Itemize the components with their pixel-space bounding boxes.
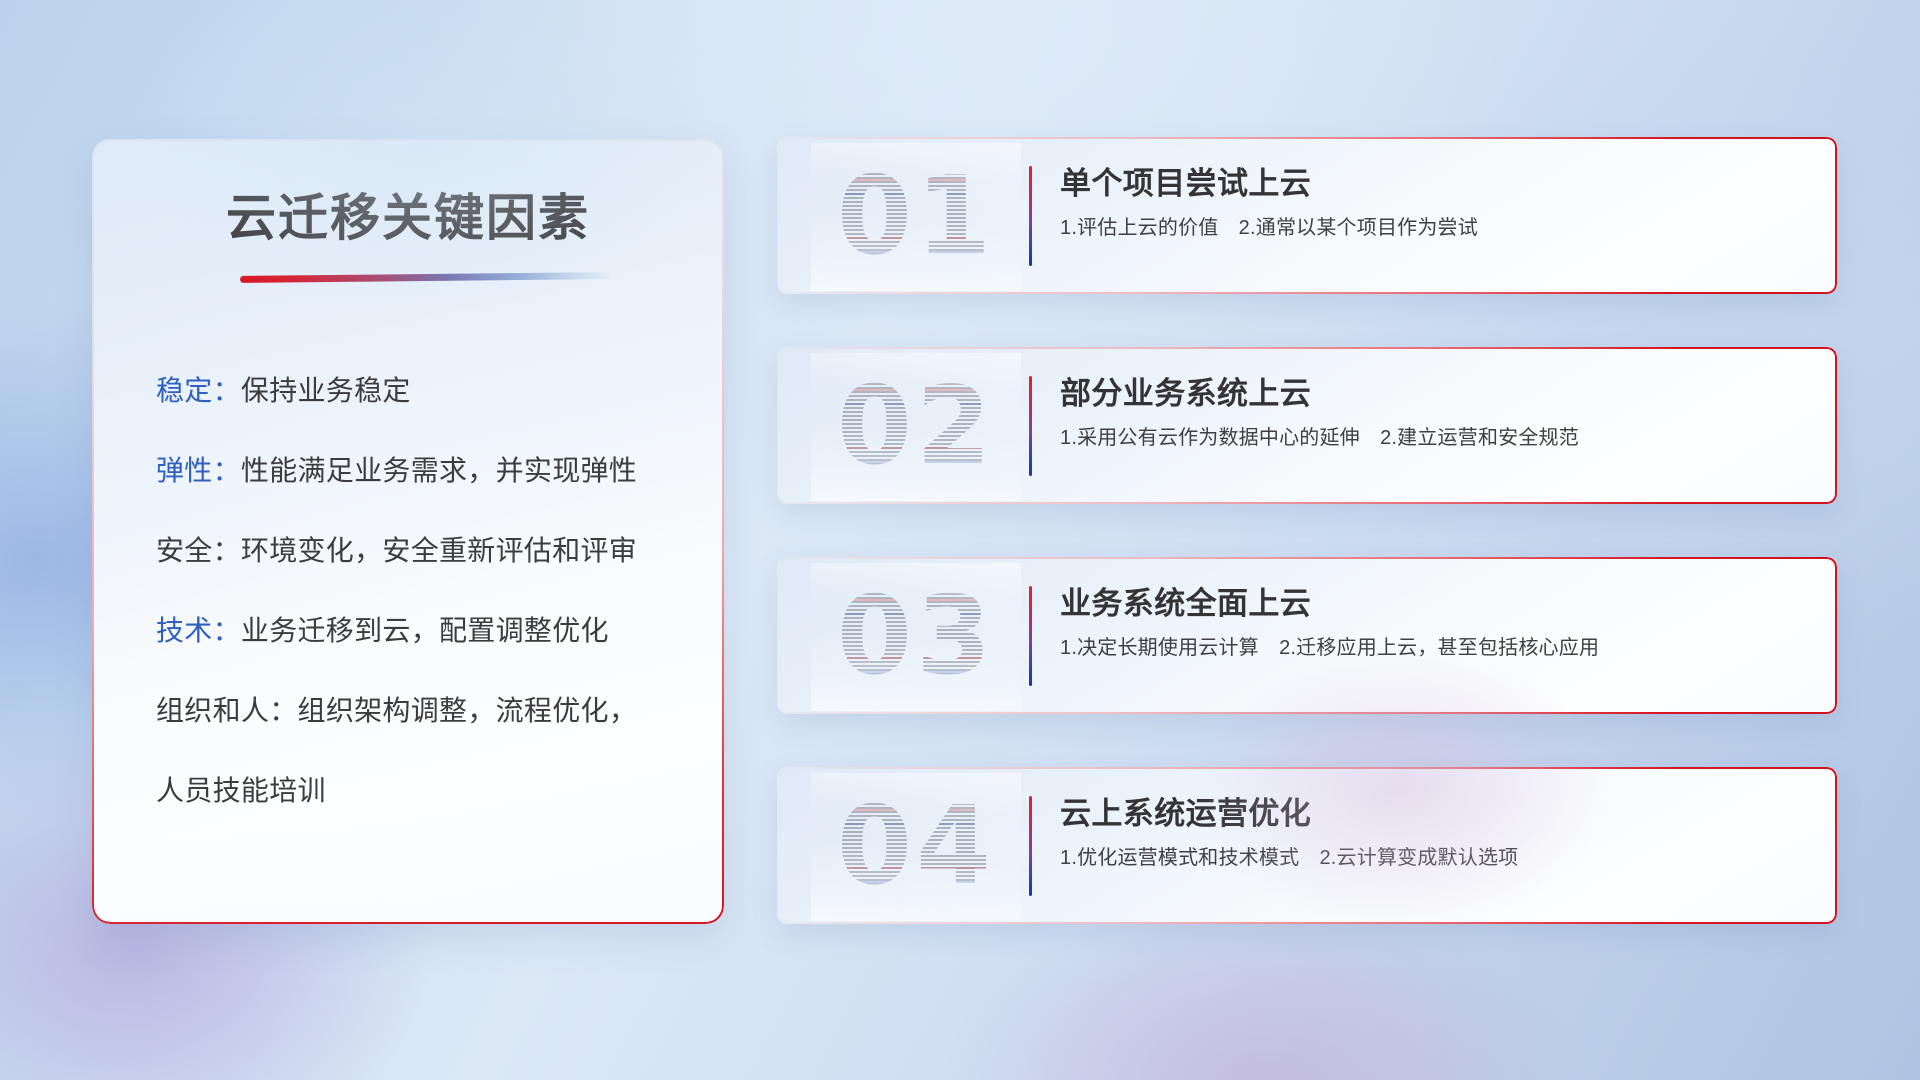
title-underline-rule bbox=[240, 272, 610, 283]
card-title: 业务系统全面上云 bbox=[1060, 585, 1813, 622]
stage-number-fade-overlay bbox=[811, 773, 1021, 921]
stage-number-tint: 04 bbox=[837, 793, 995, 901]
factor-value: 保持业务稳定 bbox=[241, 375, 411, 406]
card-body: 部分业务系统上云 1.采用公有云作为数据中心的延伸 2.建立运营和安全规范 bbox=[1060, 375, 1813, 451]
stage-card[interactable]: 01 01 单个项目尝试上云 1.评估上云的价值 2.通常以某个项目作为尝试 bbox=[777, 137, 1837, 294]
stage-card[interactable]: 03 03 业务系统全面上云 1.决定长期使用云计算 2.迁移应用上云，甚至包括… bbox=[777, 557, 1837, 714]
slide-canvas: 云迁移关键因素 稳定：保持业务稳定 弹性：性能满足业务需求，并实现弹性 安全：环… bbox=[0, 0, 1920, 1080]
factor-key: 稳定： bbox=[156, 375, 241, 406]
list-item: 技术：业务迁移到云，配置调整优化 bbox=[156, 617, 668, 645]
accent-bar-icon bbox=[1029, 796, 1032, 896]
key-factors-list: 稳定：保持业务稳定 弹性：性能满足业务需求，并实现弹性 安全：环境变化，安全重新… bbox=[92, 377, 724, 805]
list-item-continuation: 人员技能培训 bbox=[156, 777, 668, 805]
factor-key: 组织和人： bbox=[156, 695, 298, 726]
card-body: 云上系统运营优化 1.优化运营模式和技术模式 2.云计算变成默认选项 bbox=[1060, 795, 1813, 871]
stage-number-watermark: 03 03 bbox=[811, 563, 1021, 711]
factor-value: 业务迁移到云，配置调整优化 bbox=[241, 615, 609, 646]
accent-bar-icon bbox=[1029, 376, 1032, 476]
factor-key: 弹性： bbox=[156, 455, 241, 486]
factor-value: 组织架构调整，流程优化， bbox=[298, 695, 638, 726]
accent-bar-icon bbox=[1029, 166, 1032, 266]
stage-number-tint: 01 bbox=[837, 163, 995, 271]
stage-number-tint: 02 bbox=[837, 373, 995, 481]
stage-number-tint: 03 bbox=[837, 583, 995, 691]
factor-value: 性能满足业务需求，并实现弹性 bbox=[241, 455, 637, 486]
factor-value: 环境变化，安全重新评估和评审 bbox=[241, 535, 637, 566]
key-factors-panel: 云迁移关键因素 稳定：保持业务稳定 弹性：性能满足业务需求，并实现弹性 安全：环… bbox=[92, 139, 724, 924]
card-subtitle: 1.决定长期使用云计算 2.迁移应用上云，甚至包括核心应用 bbox=[1060, 636, 1813, 661]
stage-number-text: 02 bbox=[837, 373, 995, 481]
accent-bar-icon bbox=[1029, 586, 1032, 686]
stage-number-text: 01 bbox=[837, 163, 995, 271]
stage-number-fade-overlay bbox=[811, 353, 1021, 501]
card-subtitle: 1.采用公有云作为数据中心的延伸 2.建立运营和安全规范 bbox=[1060, 426, 1813, 451]
stage-card[interactable]: 02 02 部分业务系统上云 1.采用公有云作为数据中心的延伸 2.建立运营和安… bbox=[777, 347, 1837, 504]
factor-value: 人员技能培训 bbox=[156, 775, 326, 806]
list-item: 组织和人：组织架构调整，流程优化， bbox=[156, 697, 668, 725]
card-title: 云上系统运营优化 bbox=[1060, 795, 1813, 832]
stage-card-list: 01 01 单个项目尝试上云 1.评估上云的价值 2.通常以某个项目作为尝试 0… bbox=[777, 137, 1837, 924]
card-body: 单个项目尝试上云 1.评估上云的价值 2.通常以某个项目作为尝试 bbox=[1060, 165, 1813, 241]
stage-number-watermark: 02 02 bbox=[811, 353, 1021, 501]
page-title: 云迁移关键因素 bbox=[92, 191, 724, 246]
stage-number-text: 03 bbox=[837, 583, 995, 691]
card-title: 单个项目尝试上云 bbox=[1060, 165, 1813, 202]
card-subtitle: 1.评估上云的价值 2.通常以某个项目作为尝试 bbox=[1060, 216, 1813, 241]
card-subtitle: 1.优化运营模式和技术模式 2.云计算变成默认选项 bbox=[1060, 846, 1813, 871]
list-item: 稳定：保持业务稳定 bbox=[156, 377, 668, 405]
factor-key: 技术： bbox=[156, 615, 241, 646]
stage-number-fade-overlay bbox=[811, 563, 1021, 711]
factor-key: 安全： bbox=[156, 535, 241, 566]
list-item: 弹性：性能满足业务需求，并实现弹性 bbox=[156, 457, 668, 485]
list-item: 安全：环境变化，安全重新评估和评审 bbox=[156, 537, 668, 565]
stage-number-fade-overlay bbox=[811, 143, 1021, 291]
card-title: 部分业务系统上云 bbox=[1060, 375, 1813, 412]
stage-number-watermark: 01 01 bbox=[811, 143, 1021, 291]
card-body: 业务系统全面上云 1.决定长期使用云计算 2.迁移应用上云，甚至包括核心应用 bbox=[1060, 585, 1813, 661]
stage-number-text: 04 bbox=[837, 793, 995, 901]
stage-number-watermark: 04 04 bbox=[811, 773, 1021, 921]
stage-card[interactable]: 04 04 云上系统运营优化 1.优化运营模式和技术模式 2.云计算变成默认选项 bbox=[777, 767, 1837, 924]
